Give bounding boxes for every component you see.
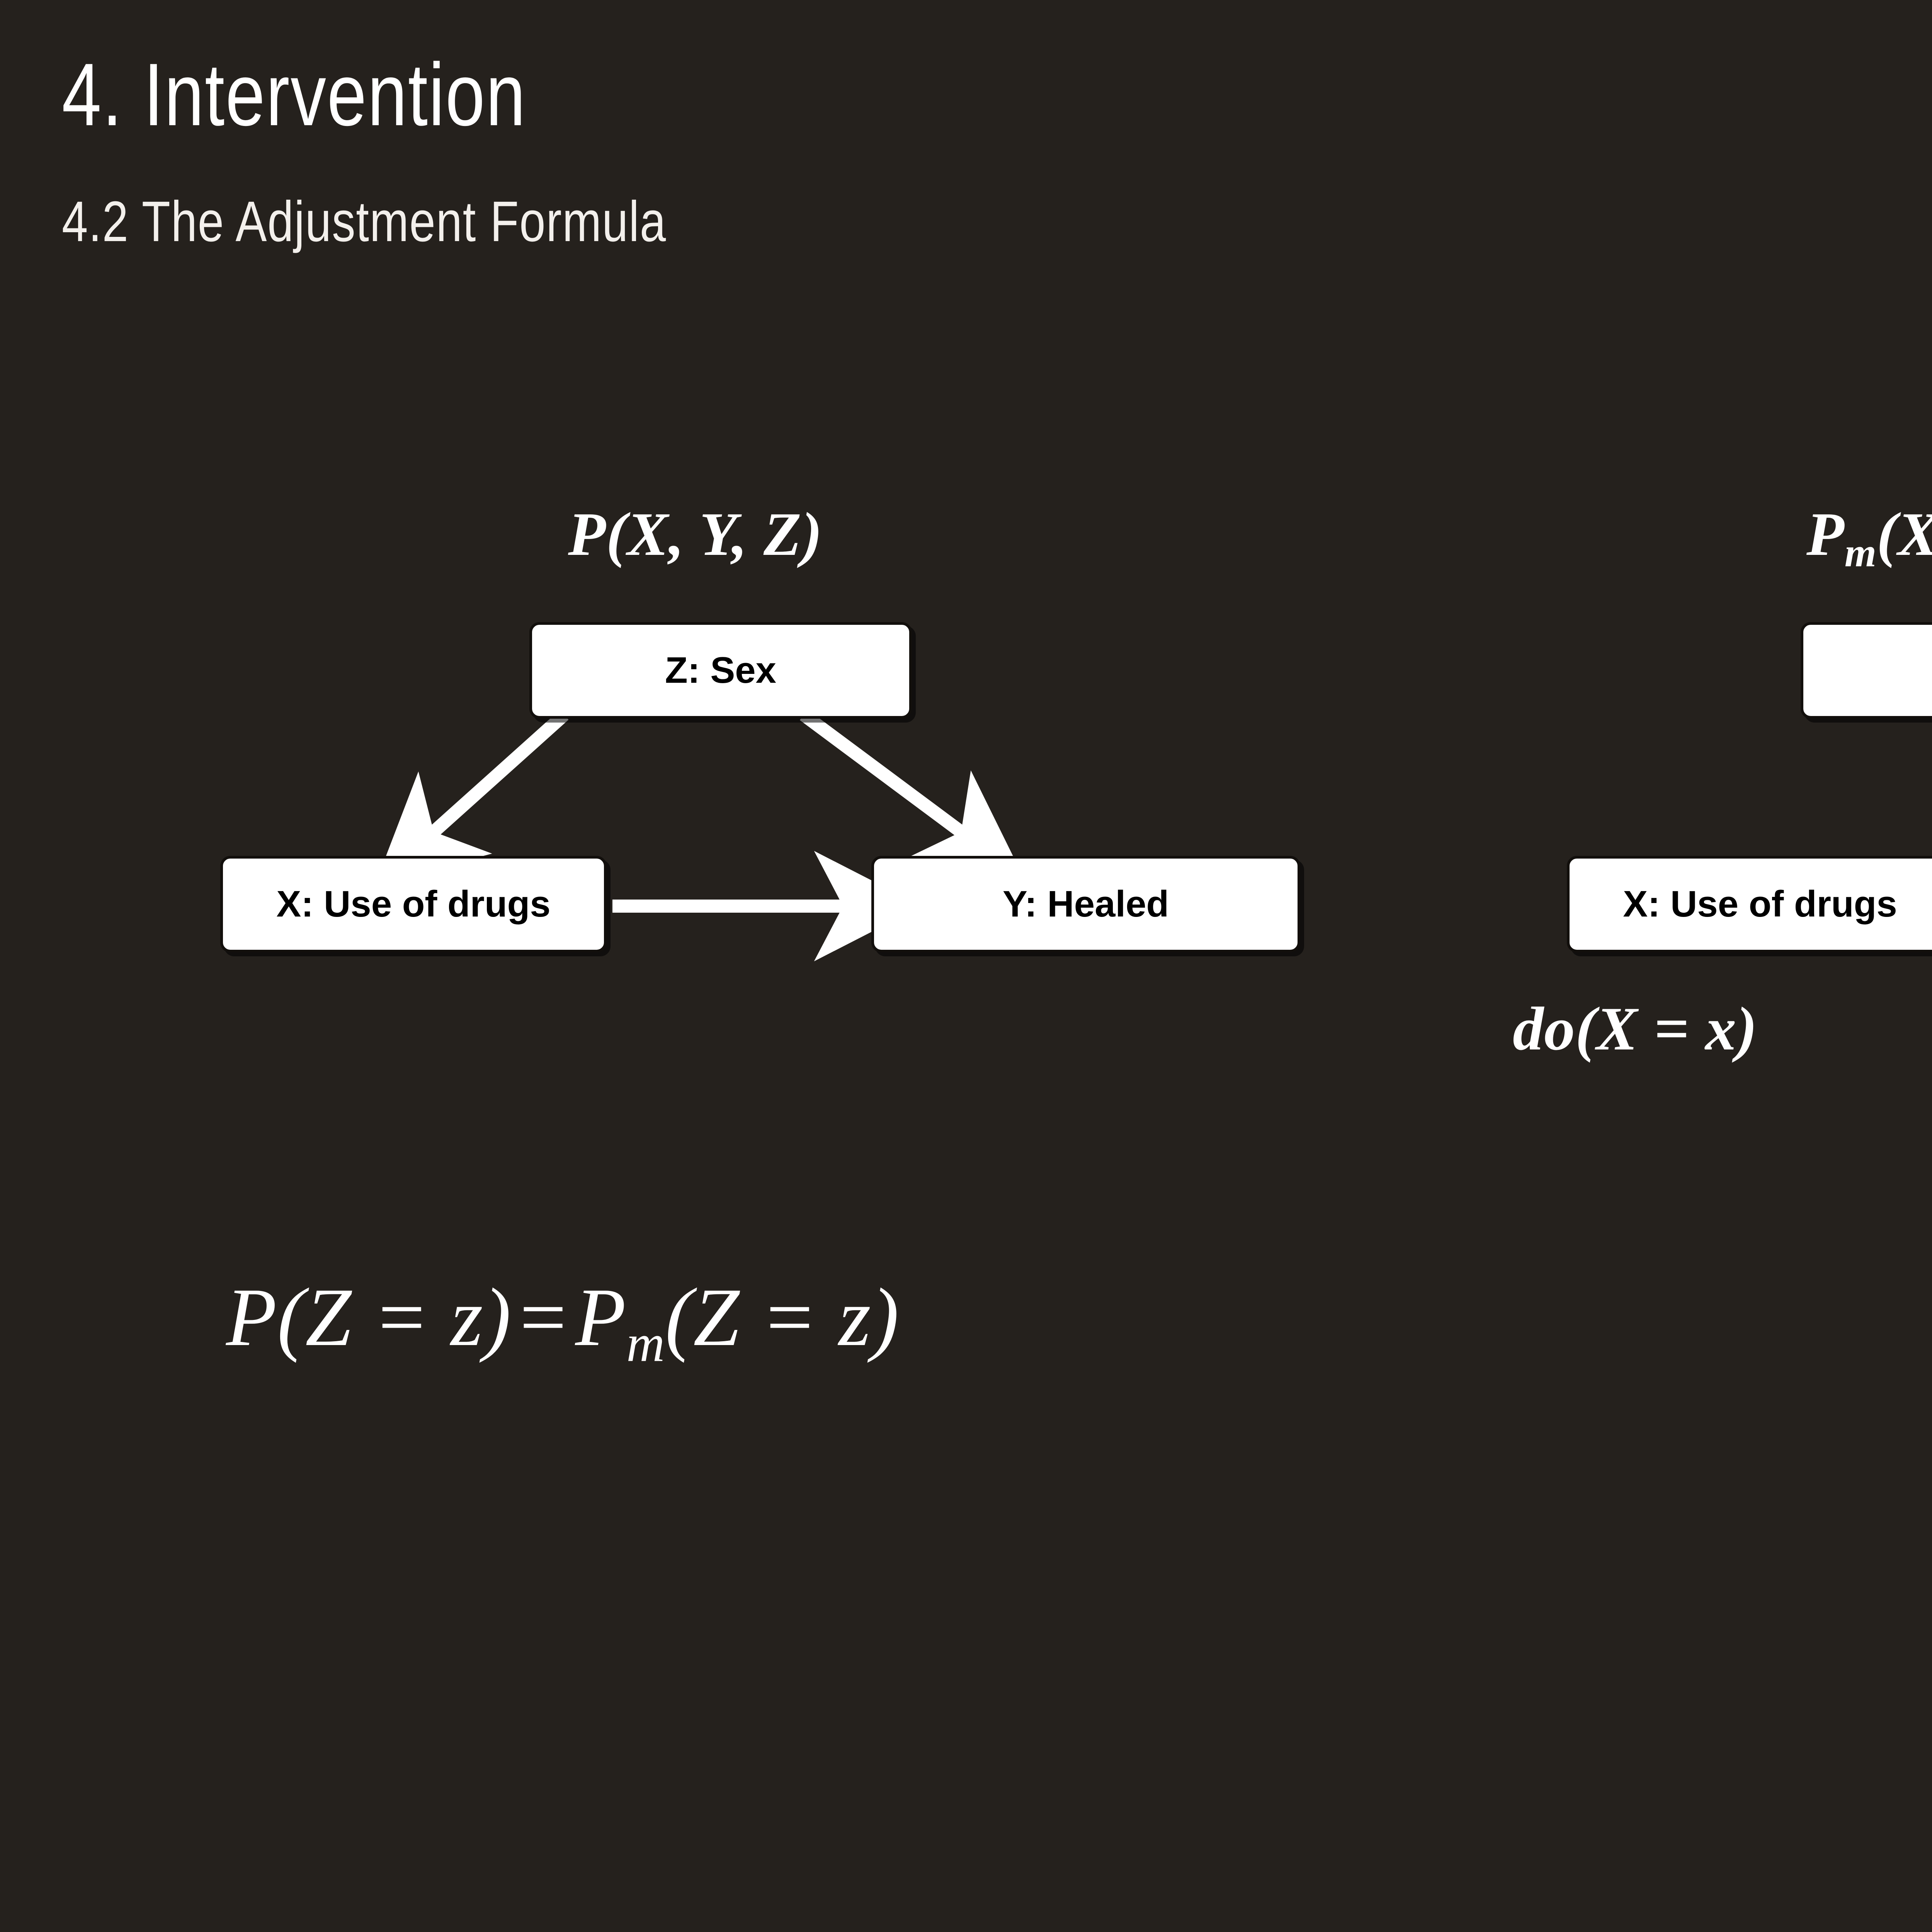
causal-diagram-observational: P(X, Y, Z) Z: Sex X: Use of drugs Y: Hea… [0,0,1391,1005]
equation-rhs-args: (Z = z) [665,1271,899,1363]
equation-lhs-p: P [226,1271,277,1363]
node-z-sex[interactable]: Z: Sex [529,622,912,719]
node-label: Y: Healed [1003,883,1169,925]
edge-z-to-y [804,715,962,833]
edge-layer-interventional [1391,0,1932,1121]
node-label: X: Use of drugs [1623,883,1897,925]
node-label: X: Use of drugs [276,883,550,925]
causal-diagram-interventional: Pm(X, Y, Z) Z: Sex X: Use of drugs Y: He… [1391,0,1932,1121]
node-label: Z: Sex [665,649,776,692]
node-z-sex[interactable]: Z: Sex [1801,622,1932,719]
node-y-healed[interactable]: Y: Healed [871,856,1300,952]
beamer-slide: 4. Intervention 4.2 The Adjustment Formu… [0,0,1932,1932]
equation-rhs-sub: m [626,1313,665,1372]
do-operator-caption: do(X = x) [1513,993,1757,1065]
node-x-use-of-drugs[interactable]: X: Use of drugs [220,856,607,952]
equation-rhs-p: P [575,1271,626,1363]
adjustment-equation: P(Z = z)=Pm(Z = z) [226,1269,899,1374]
equation-operator: = [511,1271,575,1363]
node-x-use-of-drugs[interactable]: X: Use of drugs [1567,856,1932,952]
equation-lhs-args: (Z = z) [277,1271,511,1363]
edge-layer-observational [0,0,1391,1005]
edge-z-to-x [433,715,564,833]
